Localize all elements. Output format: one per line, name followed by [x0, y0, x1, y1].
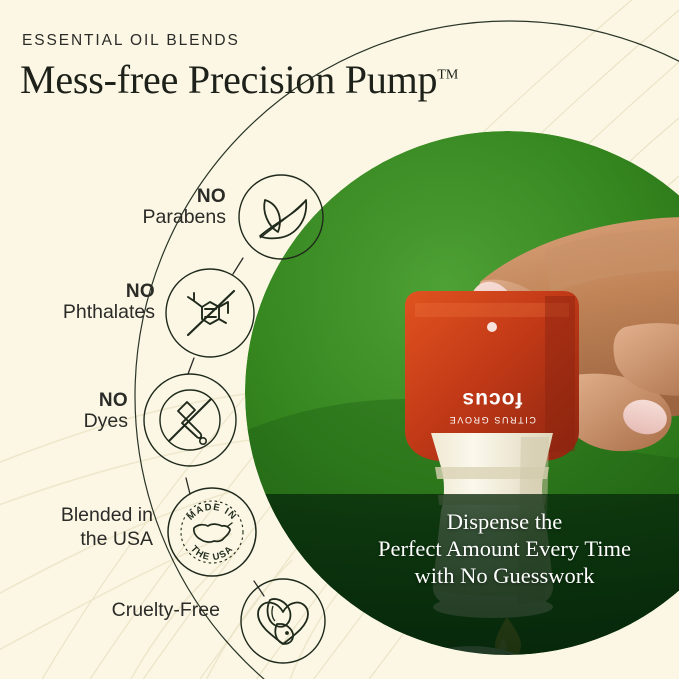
feature-dyes-label: NO Dyes — [84, 390, 128, 433]
feature-phthalates-label: NO Phthalates — [63, 281, 155, 324]
feature-cruelty-free-text: Cruelty-Free — [112, 600, 220, 622]
svg-text:MADE IN: MADE IN — [185, 502, 239, 523]
feature-cruelty-free-label: Cruelty-Free — [112, 600, 220, 622]
feature-dyes-prefix: NO — [84, 390, 128, 411]
made-in-usa-badge-icon: MADE IN THE USA — [166, 486, 258, 578]
badge-top-text: MADE IN — [185, 502, 239, 523]
feature-parabens-label: NO Parabens — [143, 186, 226, 229]
feature-dyes-text: Dyes — [84, 411, 128, 433]
leaf-icon — [238, 174, 324, 260]
svg-text:THE USA: THE USA — [188, 543, 236, 563]
bunny-heart-icon — [240, 578, 326, 664]
feature-usa-line-1: Blended in — [61, 503, 153, 527]
badge-bottom-text: THE USA — [188, 543, 236, 563]
feature-parabens-text: Parabens — [143, 207, 226, 229]
feature-phthalates-prefix: NO — [63, 281, 155, 302]
no-molecule-icon — [164, 267, 256, 359]
no-dropper-icon — [142, 372, 238, 468]
feature-phthalates-text: Phthalates — [63, 302, 155, 324]
infographic-root: ESSENTIAL OIL BLENDS Mess-free Precision… — [0, 0, 679, 679]
feature-usa: Blended in the USA — [0, 503, 153, 573]
feature-phthalates: NO Phthalates — [0, 281, 155, 351]
feature-parabens-prefix: NO — [143, 186, 226, 207]
feature-usa-line-2: the USA — [61, 527, 153, 551]
feature-parabens: NO Parabens — [0, 186, 226, 256]
feature-usa-label: Blended in the USA — [61, 503, 153, 552]
feature-cruelty-free: Cruelty-Free — [0, 600, 220, 640]
feature-dyes: NO Dyes — [0, 390, 128, 460]
